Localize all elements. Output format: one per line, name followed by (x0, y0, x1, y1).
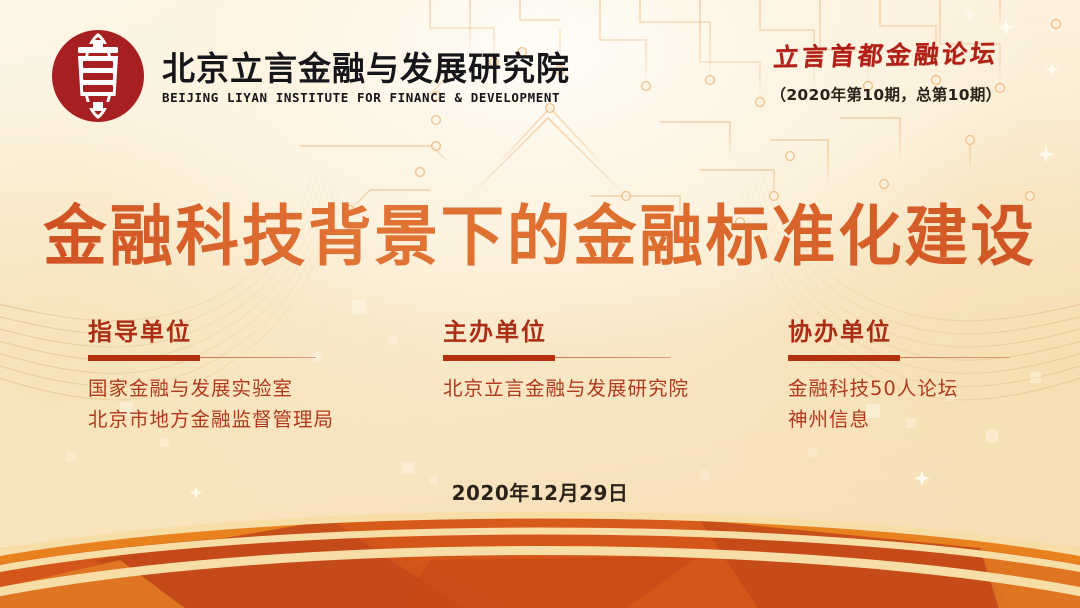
circular-seal-logo-icon (48, 26, 148, 126)
forum-issue-subtitle: （2020年第10期，总第10期） (736, 83, 1036, 105)
unit-heading: 指导单位 (88, 318, 338, 347)
unit-heading-underline (88, 353, 338, 362)
institute-logo-block: 北京立言金融与发展研究院 BEIJING LIYAN INSTITUTE FOR… (48, 26, 570, 126)
unit-heading-underline (788, 353, 1038, 362)
unit-heading: 协办单位 (788, 318, 1038, 347)
unit-item: 金融科技50人论坛 (788, 373, 1038, 405)
forum-branding-block: 立言首都金融论坛 （2020年第10期，总第10期） (736, 36, 1036, 105)
institute-name-cn: 北京立言金融与发展研究院 (162, 51, 570, 87)
unit-heading: 主办单位 (443, 318, 733, 347)
institute-name-group: 北京立言金融与发展研究院 BEIJING LIYAN INSTITUTE FOR… (162, 51, 570, 105)
forum-title: 立言首都金融论坛 (734, 33, 1038, 74)
unit-group-host: 主办单位 北京立言金融与发展研究院 (443, 318, 733, 404)
organizing-units-section: 指导单位 国家金融与发展实验室 北京市地方金融监督管理局 主办单位 北京立言金融… (0, 318, 1080, 448)
event-date: 2020年12月29日 (0, 477, 1080, 506)
event-poster: 北京立言金融与发展研究院 BEIJING LIYAN INSTITUTE FOR… (0, 0, 1080, 608)
unit-item-list: 金融科技50人论坛 神州信息 (788, 373, 1038, 436)
unit-item: 神州信息 (788, 404, 1038, 436)
poster-main-title: 金融科技背景下的金融标准化建设 (22, 183, 1059, 279)
unit-heading-underline (443, 353, 733, 362)
unit-item-list: 国家金融与发展实验室 北京市地方金融监督管理局 (88, 373, 338, 436)
unit-group-co-host: 协办单位 金融科技50人论坛 神州信息 (788, 318, 1038, 436)
poster-header: 北京立言金融与发展研究院 BEIJING LIYAN INSTITUTE FOR… (0, 0, 1080, 130)
unit-item: 北京立言金融与发展研究院 (443, 373, 733, 405)
unit-item-list: 北京立言金融与发展研究院 (443, 373, 733, 405)
institute-name-en: BEIJING LIYAN INSTITUTE FOR FINANCE & DE… (162, 90, 570, 105)
unit-item: 国家金融与发展实验室 (88, 373, 338, 405)
unit-group-guidance: 指导单位 国家金融与发展实验室 北京市地方金融监督管理局 (88, 318, 338, 436)
unit-item: 北京市地方金融监督管理局 (88, 404, 338, 436)
